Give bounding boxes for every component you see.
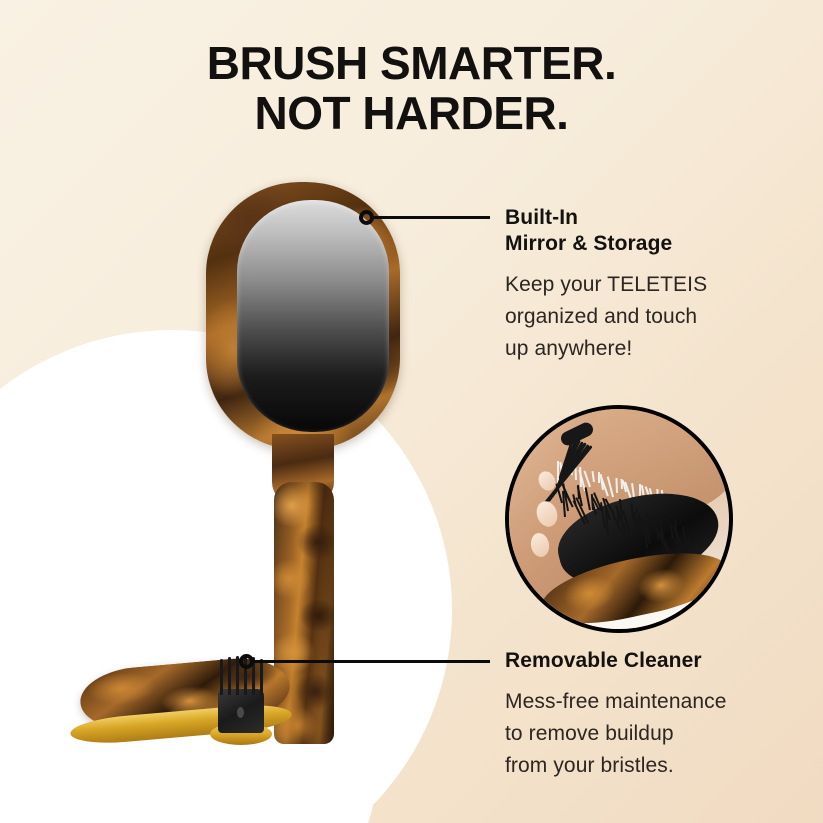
cleaner-prong — [228, 657, 231, 695]
callout-body-mirror-line-2: organized and touch — [505, 301, 767, 333]
callout-body-cleaner-line-2: to remove buildup — [505, 718, 767, 750]
headline-line-1: BRUSH SMARTER. — [207, 37, 617, 89]
inset-photo-brush-cleaning — [505, 405, 733, 633]
callout-heading-mirror-line-1: Built-In — [505, 205, 767, 231]
callout-block-built-in-mirror-storage: Built-In Mirror & Storage Keep your TELE… — [505, 205, 767, 365]
callout-line-mirror — [372, 216, 490, 219]
callout-block-removable-cleaner: Removable Cleaner Mess-free maintenance … — [505, 648, 767, 782]
infographic-canvas: BRUSH SMARTER. NOT HARDER. — [0, 0, 823, 823]
callout-body-cleaner-line-1: Mess-free maintenance — [505, 686, 767, 718]
callout-body-cleaner-line-3: from your bristles. — [505, 750, 767, 782]
callout-body-mirror: Keep your TELETEIS organized and touch u… — [505, 269, 767, 365]
cleaner-prong — [220, 659, 223, 695]
callout-line-cleaner — [252, 660, 490, 663]
callout-body-cleaner: Mess-free maintenance to remove buildup … — [505, 686, 767, 782]
callout-heading-mirror-line-2: Mirror & Storage — [505, 231, 767, 257]
photo-cleaner-tool — [562, 431, 650, 506]
callout-heading-cleaner-line-1: Removable Cleaner — [505, 648, 767, 674]
page-title: BRUSH SMARTER. NOT HARDER. — [0, 38, 823, 138]
callout-heading-cleaner: Removable Cleaner — [505, 648, 767, 674]
headline-line-2: NOT HARDER. — [0, 88, 823, 138]
product-brush-lying-with-cleaner — [62, 655, 332, 775]
mirror-glass — [237, 200, 389, 432]
cleaner-thumb-notch — [237, 707, 244, 718]
callout-heading-mirror: Built-In Mirror & Storage — [505, 205, 767, 257]
callout-body-mirror-line-1: Keep your TELETEIS — [505, 269, 767, 301]
cleaner-prong — [260, 659, 263, 695]
callout-body-mirror-line-3: up anywhere! — [505, 333, 767, 365]
